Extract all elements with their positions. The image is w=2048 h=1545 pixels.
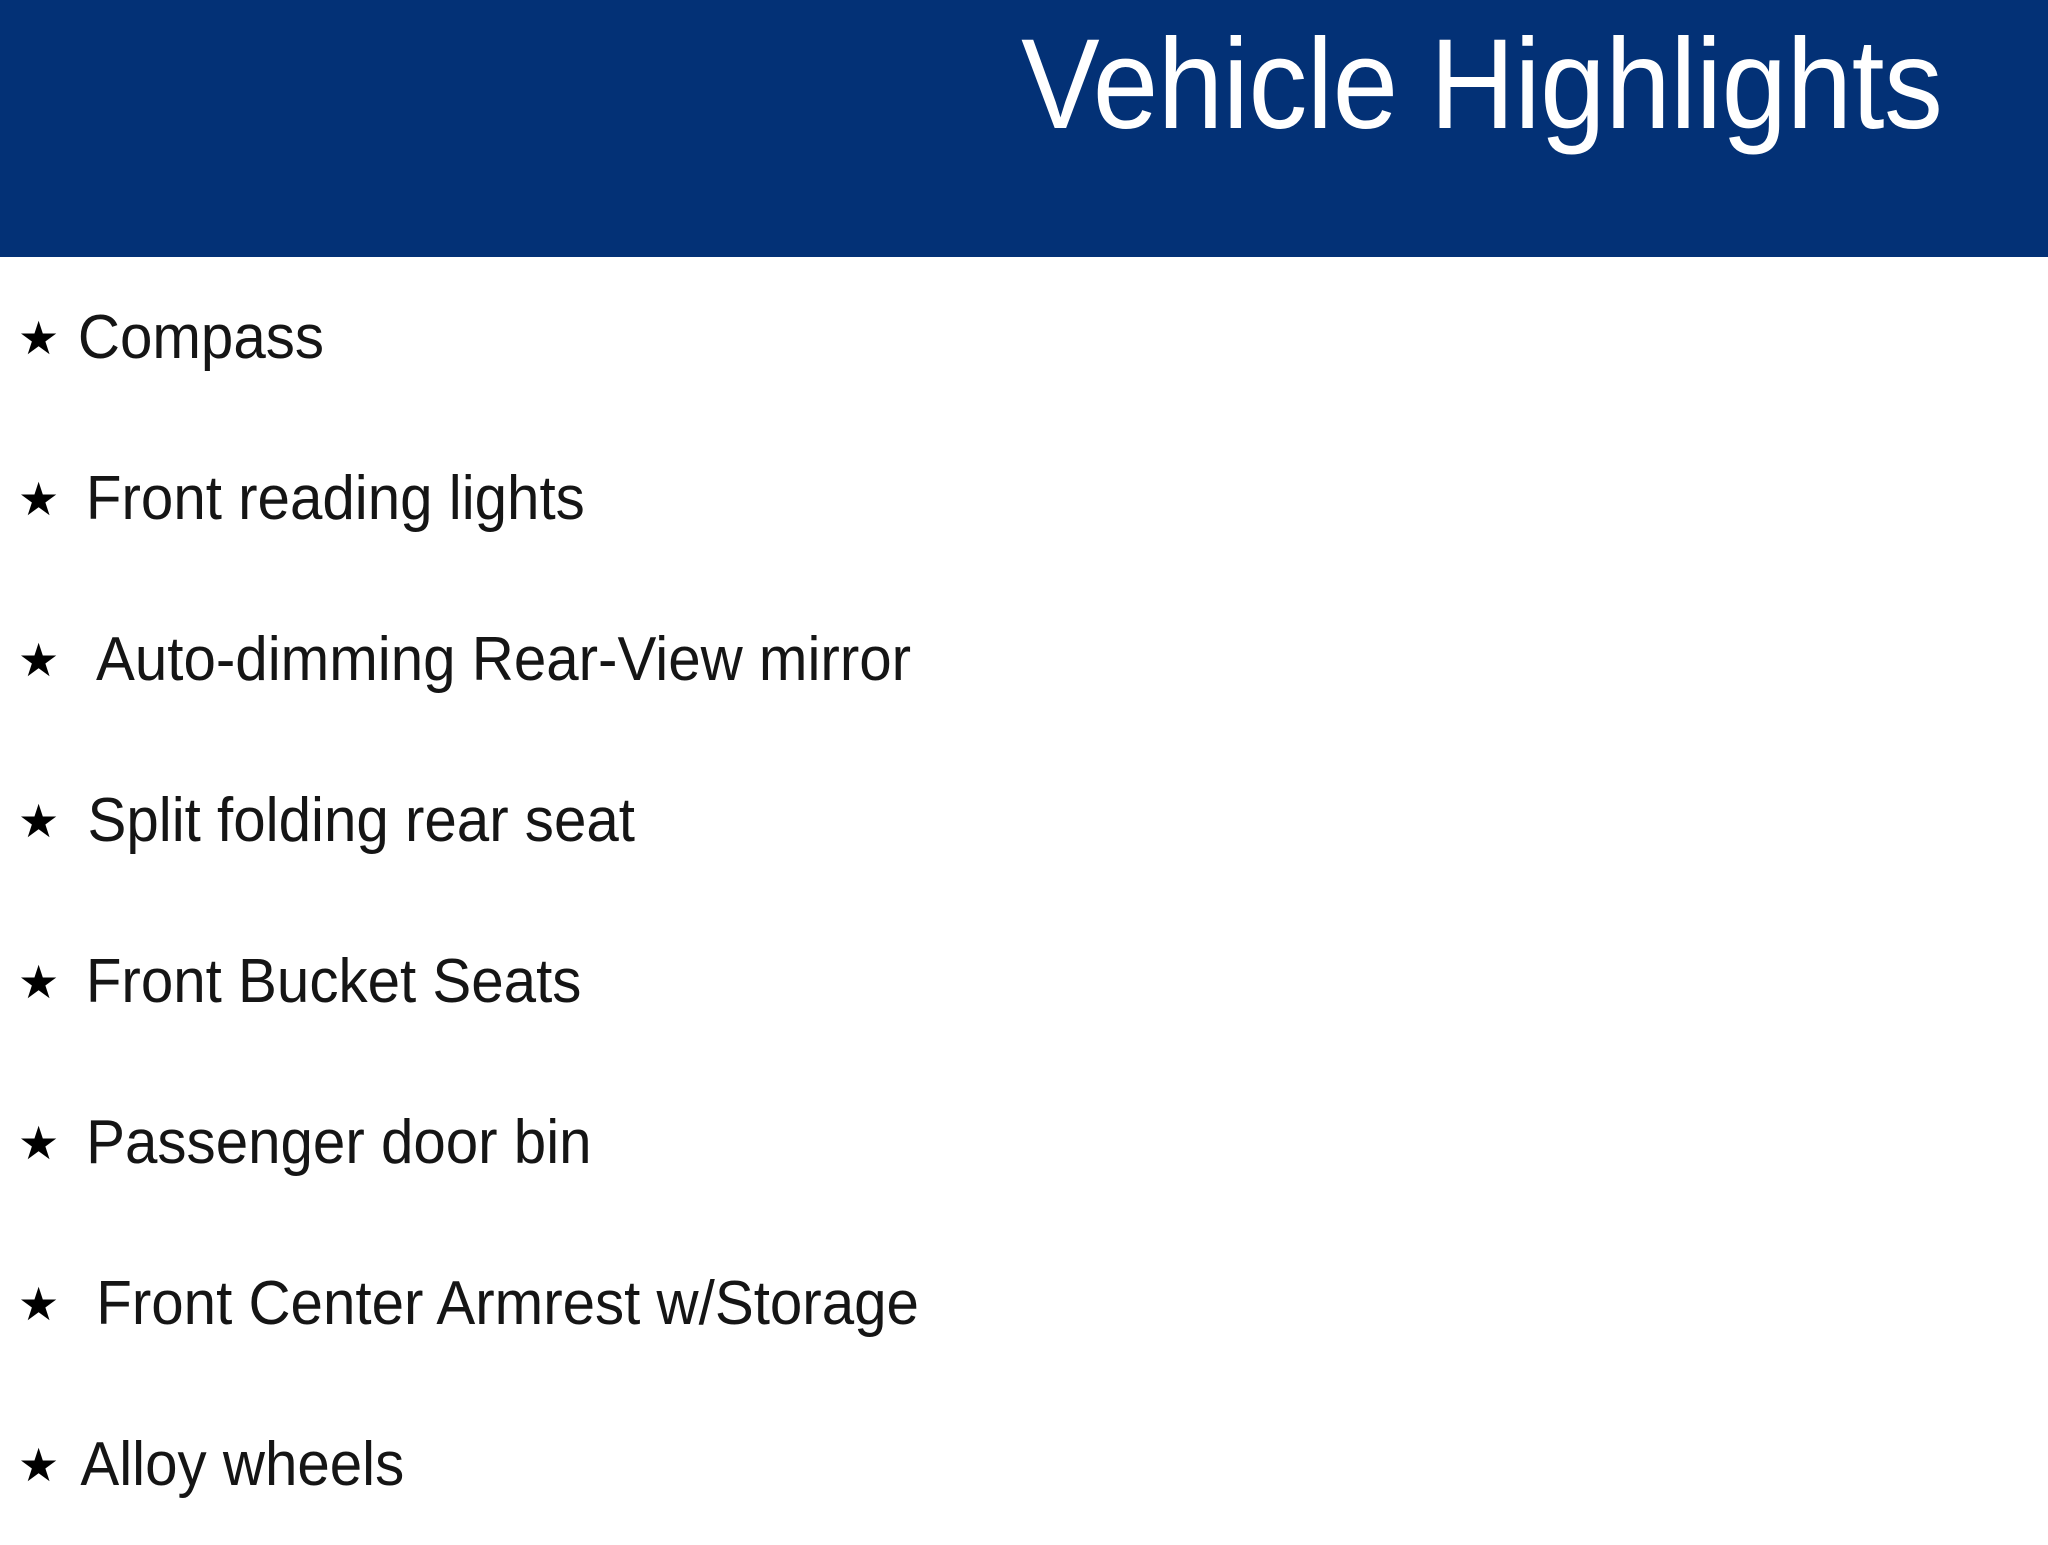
list-item: ★Front Center Armrest w/Storage [0,1223,2048,1384]
list-item-label: Front Center Armrest w/Storage [96,1273,919,1335]
list-item: ★Alloy wheels [0,1384,2048,1545]
list-item-label: Front Bucket Seats [86,951,582,1013]
star-bullet-icon: ★ [18,315,70,361]
list-item: ★Passenger door bin [0,1062,2048,1223]
star-bullet-icon: ★ [18,637,70,683]
star-bullet-icon: ★ [18,1281,70,1327]
list-item: ★Front reading lights [0,418,2048,579]
list-item-label: Auto-dimming Rear-View mirror [96,629,911,691]
vehicle-highlights-slide: Vehicle Highlights ★Compass★Front readin… [0,0,2048,1536]
star-bullet-icon: ★ [18,1442,70,1488]
list-item: ★Compass [0,257,2048,418]
list-item-label: Alloy wheels [80,1434,404,1496]
header-band: Vehicle Highlights [0,0,2048,257]
list-item-label: Split folding rear seat [87,790,634,852]
vehicle-highlights-list: ★Compass★Front reading lights★Auto-dimmi… [0,257,2048,1545]
star-bullet-icon: ★ [18,798,70,844]
page-title: Vehicle Highlights [1021,18,1942,152]
star-bullet-icon: ★ [18,476,70,522]
star-bullet-icon: ★ [18,1120,70,1166]
list-item: ★Auto-dimming Rear-View mirror [0,579,2048,740]
list-item-label: Front reading lights [86,468,585,530]
list-item-label: Compass [78,307,324,369]
list-item: ★Split folding rear seat [0,740,2048,901]
list-item-label: Passenger door bin [86,1112,591,1174]
star-bullet-icon: ★ [18,959,70,1005]
list-item: ★Front Bucket Seats [0,901,2048,1062]
